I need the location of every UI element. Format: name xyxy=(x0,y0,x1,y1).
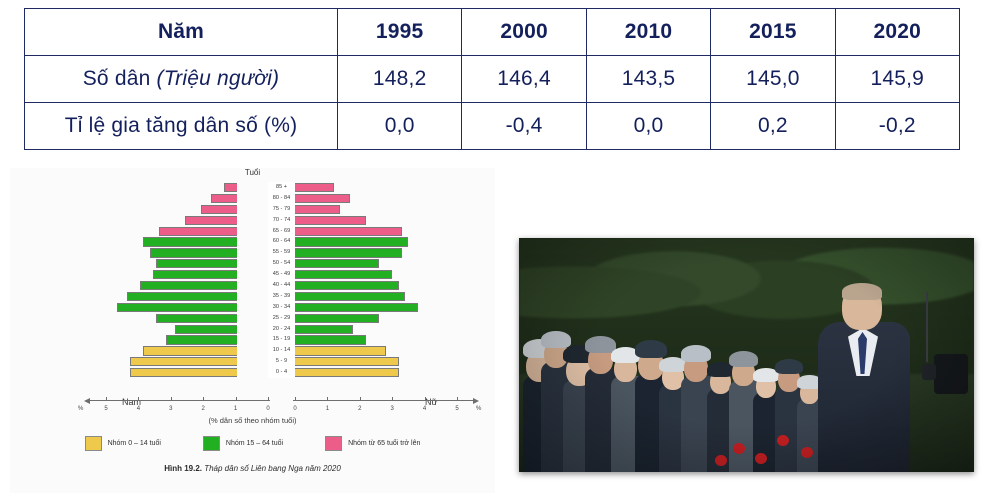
pyramid-axis: % % 543210012345 xyxy=(10,396,495,406)
photo-image xyxy=(519,238,974,472)
pyramid-age-label: 0 - 4 xyxy=(268,367,295,378)
pyramid-bar-female xyxy=(295,248,402,257)
legend-label: Nhóm 0 – 14 tuổi xyxy=(108,440,161,447)
pyramid-row: 80 - 84 xyxy=(10,193,495,204)
population-table: Năm 1995 2000 2010 2015 2020 Số dân (Tri… xyxy=(24,8,960,150)
axis-tick xyxy=(138,397,139,401)
pyramid-bar-female xyxy=(295,314,379,323)
cell-growth-2015: 0,2 xyxy=(711,103,835,150)
pyramid-bars: 85 +80 - 8475 - 7970 - 7465 - 6960 - 645… xyxy=(10,182,495,394)
pyramid-bar-male xyxy=(143,237,237,246)
pyramid-row: 55 - 59 xyxy=(10,247,495,258)
axis-arrow-right-icon xyxy=(473,398,479,404)
table-header-year: Năm xyxy=(25,9,338,56)
cell-population-1995: 148,2 xyxy=(338,56,462,103)
pyramid-row: 75 - 79 xyxy=(10,204,495,215)
axis-tick xyxy=(457,397,458,401)
pyramid-age-label: 15 - 19 xyxy=(268,334,295,345)
pyramid-bar-male xyxy=(211,194,237,203)
pyramid-age-label: 40 - 44 xyxy=(268,280,295,291)
legend-item: Nhóm 0 – 14 tuổi xyxy=(85,436,161,451)
axis-tick-label: 1 xyxy=(326,406,329,412)
table-header-row: Năm 1995 2000 2010 2015 2020 xyxy=(25,9,960,56)
pyramid-age-label: 55 - 59 xyxy=(268,247,295,258)
pyramid-age-label: 5 - 9 xyxy=(268,356,295,367)
pyramid-age-label: 30 - 34 xyxy=(268,302,295,313)
axis-line-right xyxy=(293,400,473,401)
legend-label: Nhóm 15 – 64 tuổi xyxy=(226,440,283,447)
pyramid-axis-caption: (% dân số theo nhóm tuổi) xyxy=(10,416,495,425)
pyramid-bar-female xyxy=(295,357,399,366)
figure-caption: Hình 19.2. Tháp dân số Liên bang Nga năm… xyxy=(10,464,495,473)
pyramid-row: 20 - 24 xyxy=(10,324,495,335)
axis-percent-right: % xyxy=(476,406,481,412)
pyramid-bar-male xyxy=(224,183,237,192)
pyramid-bar-female xyxy=(295,227,402,236)
legend-item: Nhóm 15 – 64 tuổi xyxy=(203,436,283,451)
axis-tick-label: 3 xyxy=(169,406,172,412)
pyramid-bar-female xyxy=(295,194,350,203)
axis-tick-label: 5 xyxy=(104,406,107,412)
pyramid-age-label: 65 - 69 xyxy=(268,226,295,237)
axis-tick-label: 5 xyxy=(455,406,458,412)
table-header-1995: 1995 xyxy=(338,9,462,56)
pyramid-bar-male xyxy=(130,357,237,366)
pyramid-age-label: 60 - 64 xyxy=(268,236,295,247)
pyramid-bar-male xyxy=(130,368,237,377)
cell-population-2000: 146,4 xyxy=(462,56,586,103)
row-label-population-plain: Số dân xyxy=(83,67,157,90)
cell-growth-1995: 0,0 xyxy=(338,103,462,150)
cell-growth-2010: 0,0 xyxy=(586,103,710,150)
population-pyramid-figure: Tuổi Nam Nữ 85 +80 - 8475 - 7970 - 7465 … xyxy=(10,168,495,493)
cell-population-2015: 145,0 xyxy=(711,56,835,103)
pyramid-bar-male xyxy=(150,248,237,257)
pyramid-bar-female xyxy=(295,292,405,301)
pyramid-row: 5 - 9 xyxy=(10,356,495,367)
pyramid-row: 65 - 69 xyxy=(10,226,495,237)
pyramid-bar-male xyxy=(166,335,237,344)
pyramid-row: 40 - 44 xyxy=(10,280,495,291)
row-label-growth-rate: Tỉ lệ gia tăng dân số (%) xyxy=(25,103,338,150)
pyramid-age-label: 25 - 29 xyxy=(268,313,295,324)
legend-swatch xyxy=(203,436,220,451)
figure-caption-text: Tháp dân số Liên bang Nga năm 2020 xyxy=(202,464,341,473)
legend-item: Nhóm từ 65 tuổi trở lên xyxy=(325,436,420,451)
axis-percent-left: % xyxy=(78,406,83,412)
pyramid-bar-male xyxy=(127,292,237,301)
pyramid-bar-female xyxy=(295,205,340,214)
pyramid-age-label: 85 + xyxy=(268,182,295,193)
axis-tick xyxy=(425,397,426,401)
table-row: Số dân (Triệu người) 148,2 146,4 143,5 1… xyxy=(25,56,960,103)
axis-tick xyxy=(236,397,237,401)
pyramid-bar-female xyxy=(295,259,379,268)
axis-tick-label: 1 xyxy=(234,406,237,412)
pyramid-bar-female xyxy=(295,281,399,290)
pyramid-bar-male xyxy=(159,227,237,236)
pyramid-bar-female xyxy=(295,183,334,192)
axis-line-left xyxy=(90,400,270,401)
pyramid-row: 10 - 14 xyxy=(10,345,495,356)
photo-frame xyxy=(519,238,974,472)
axis-tick-label: 2 xyxy=(358,406,361,412)
pyramid-bar-male xyxy=(201,205,237,214)
pyramid-bar-male xyxy=(143,346,237,355)
pyramid-bar-male xyxy=(185,216,237,225)
table-header-2000: 2000 xyxy=(462,9,586,56)
legend-swatch xyxy=(85,436,102,451)
axis-tick-label: 4 xyxy=(423,406,426,412)
axis-tick xyxy=(327,397,328,401)
pyramid-row: 70 - 74 xyxy=(10,215,495,226)
axis-tick xyxy=(203,397,204,401)
pyramid-bar-male xyxy=(153,270,237,279)
cell-growth-2020: -0,2 xyxy=(835,103,959,150)
axis-tick xyxy=(295,397,296,401)
pyramid-age-label: 20 - 24 xyxy=(268,324,295,335)
pyramid-bar-female xyxy=(295,368,399,377)
pyramid-bar-female xyxy=(295,303,418,312)
axis-tick-label: 0 xyxy=(293,406,296,412)
pyramid-age-label: 10 - 14 xyxy=(268,345,295,356)
axis-tick xyxy=(106,397,107,401)
pyramid-bar-female xyxy=(295,325,353,334)
axis-tick xyxy=(360,397,361,401)
pyramid-bar-male xyxy=(156,314,237,323)
photo-vignette xyxy=(519,238,974,472)
row-label-population: Số dân (Triệu người) xyxy=(25,56,338,103)
pyramid-age-label: 45 - 49 xyxy=(268,269,295,280)
row-label-population-unit: (Triệu người) xyxy=(157,67,280,90)
pyramid-row: 35 - 39 xyxy=(10,291,495,302)
table-header-2015: 2015 xyxy=(711,9,835,56)
pyramid-legend: Nhóm 0 – 14 tuổiNhóm 15 – 64 tuổiNhóm từ… xyxy=(10,436,495,451)
pyramid-age-label: 80 - 84 xyxy=(268,193,295,204)
pyramid-row: 85 + xyxy=(10,182,495,193)
pyramid-row: 25 - 29 xyxy=(10,313,495,324)
pyramid-age-label: 35 - 39 xyxy=(268,291,295,302)
pyramid-row: 45 - 49 xyxy=(10,269,495,280)
table-row: Tỉ lệ gia tăng dân số (%) 0,0 -0,4 0,0 0… xyxy=(25,103,960,150)
axis-tick-label: 2 xyxy=(202,406,205,412)
axis-arrow-left-icon xyxy=(84,398,90,404)
pyramid-bar-female xyxy=(295,346,386,355)
pyramid-row: 60 - 64 xyxy=(10,236,495,247)
axis-tick-label: 0 xyxy=(266,406,269,412)
pyramid-age-label: 75 - 79 xyxy=(268,204,295,215)
pyramid-bar-female xyxy=(295,335,366,344)
cell-population-2020: 145,9 xyxy=(835,56,959,103)
pyramid-bar-male xyxy=(175,325,237,334)
pyramid-bar-male xyxy=(156,259,237,268)
pyramid-bar-male xyxy=(140,281,237,290)
pyramid-age-label: 50 - 54 xyxy=(268,258,295,269)
pyramid-row: 15 - 19 xyxy=(10,334,495,345)
axis-tick xyxy=(392,397,393,401)
pyramid-row: 0 - 4 xyxy=(10,367,495,378)
pyramid-axis-title: Tuổi xyxy=(10,168,495,177)
pyramid-bar-male xyxy=(117,303,237,312)
pyramid-bar-female xyxy=(295,237,408,246)
legend-swatch xyxy=(325,436,342,451)
pyramid-bar-female xyxy=(295,216,366,225)
table-header-2010: 2010 xyxy=(586,9,710,56)
pyramid-row: 30 - 34 xyxy=(10,302,495,313)
table-header-2020: 2020 xyxy=(835,9,959,56)
axis-tick-label: 3 xyxy=(391,406,394,412)
pyramid-row: 50 - 54 xyxy=(10,258,495,269)
axis-tick xyxy=(171,397,172,401)
pyramid-age-label: 70 - 74 xyxy=(268,215,295,226)
axis-tick xyxy=(268,397,269,401)
cell-growth-2000: -0,4 xyxy=(462,103,586,150)
axis-tick-label: 4 xyxy=(137,406,140,412)
population-table-wrapper: Năm 1995 2000 2010 2015 2020 Số dân (Tri… xyxy=(24,8,960,150)
figure-caption-number: Hình 19.2. xyxy=(164,464,202,473)
pyramid-bar-female xyxy=(295,270,392,279)
legend-label: Nhóm từ 65 tuổi trở lên xyxy=(348,440,420,447)
cell-population-2010: 143,5 xyxy=(586,56,710,103)
